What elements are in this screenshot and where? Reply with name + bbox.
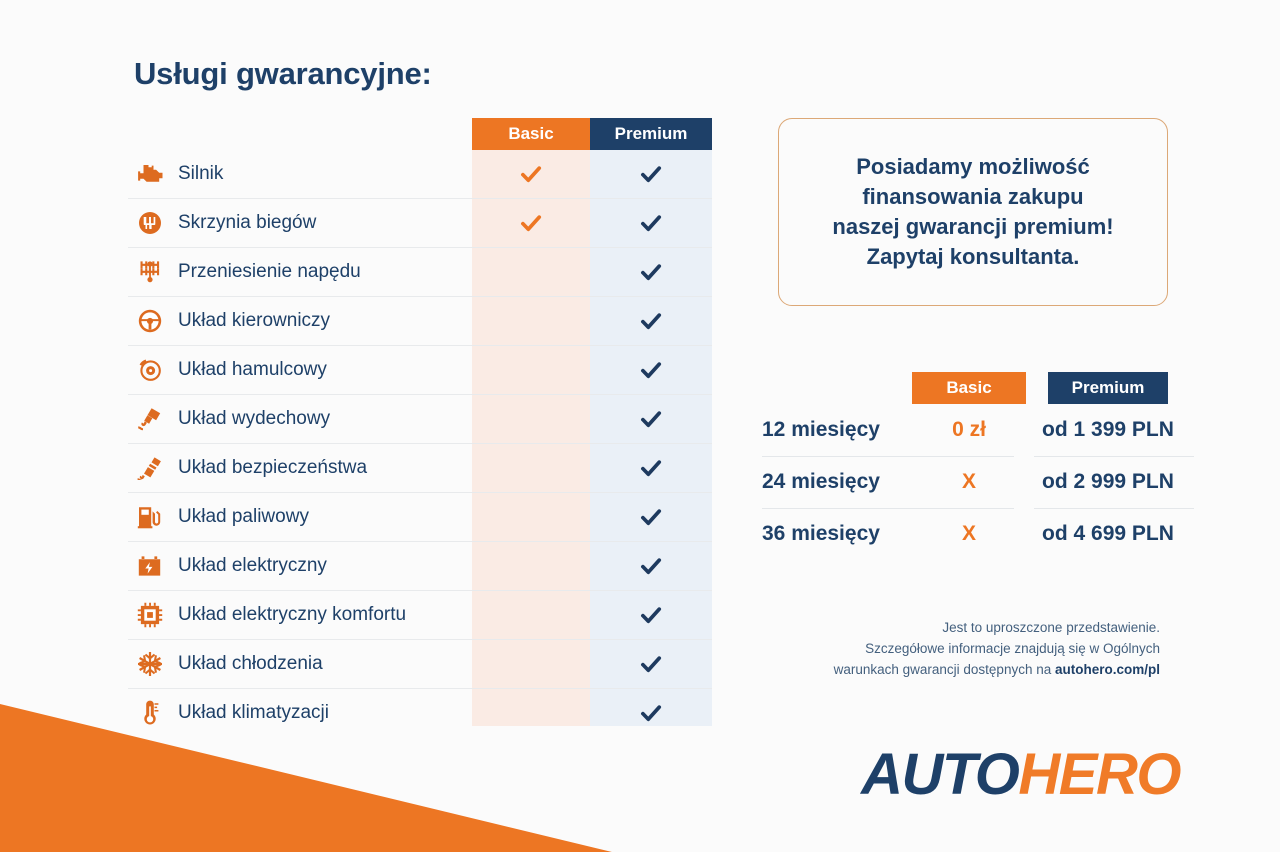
- warranty-table-header: Basic Premium: [128, 118, 712, 150]
- table-row: Układ wydechowy: [128, 395, 712, 444]
- column-header-premium: Premium: [590, 118, 712, 150]
- battery-icon: [132, 551, 168, 581]
- check-icon: [638, 553, 664, 579]
- table-row: Układ klimatyzacji: [128, 689, 712, 737]
- cell-basic: [472, 199, 590, 247]
- cell-basic: [472, 248, 590, 296]
- table-row: Układ elektryczny komfortu: [128, 591, 712, 640]
- pricing-premium-value: od 4 699 PLN: [1034, 508, 1182, 560]
- pricing-premium-value: od 1 399 PLN: [1034, 404, 1182, 456]
- cell-premium: [590, 395, 712, 443]
- check-icon: [638, 210, 664, 236]
- fineprint-line-3: warunkach gwarancji dostępnych na autohe…: [720, 660, 1160, 681]
- pricing-header-premium: Premium: [1048, 372, 1168, 404]
- check-icon: [638, 455, 664, 481]
- chip-icon: [132, 600, 168, 630]
- pricing-row: 24 miesięcyXod 2 999 PLN: [740, 456, 1200, 508]
- table-row: Układ elektryczny: [128, 542, 712, 591]
- logo-text-hero: HERO: [1018, 741, 1180, 808]
- table-row: Układ bezpieczeństwa: [128, 444, 712, 493]
- gearbox-icon: [132, 208, 168, 238]
- cell-basic: [472, 346, 590, 394]
- service-label: Układ kierowniczy: [178, 310, 330, 332]
- pricing-term-label: 36 miesięcy: [762, 508, 932, 560]
- fuel-pump-icon: [132, 502, 168, 532]
- column-header-basic: Basic: [472, 118, 590, 150]
- table-row: Układ chłodzenia: [128, 640, 712, 689]
- check-icon: [518, 161, 544, 187]
- service-label: Układ elektryczny komfortu: [178, 604, 406, 626]
- pricing-table: Basic Premium 12 miesięcy0 złod 1 399 PL…: [740, 372, 1200, 560]
- pricing-premium-value: od 2 999 PLN: [1034, 456, 1182, 508]
- cell-premium: [590, 640, 712, 688]
- fineprint-line-3-prefix: warunkach gwarancji dostępnych na: [834, 662, 1055, 677]
- table-row: Silnik: [128, 150, 712, 199]
- check-icon: [518, 210, 544, 236]
- service-label: Układ wydechowy: [178, 408, 330, 430]
- check-icon: [638, 651, 664, 677]
- service-label: Układ klimatyzacji: [178, 702, 329, 724]
- check-icon: [638, 406, 664, 432]
- check-icon: [638, 161, 664, 187]
- cell-premium: [590, 689, 712, 737]
- pricing-row: 12 miesięcy0 złod 1 399 PLN: [740, 404, 1200, 456]
- poster-canvas: Usługi gwarancyjne: Basic Premium Silnik…: [0, 0, 1280, 852]
- warranty-services-section: Usługi gwarancyjne: Basic Premium Silnik…: [128, 56, 712, 737]
- warranty-table-body: SilnikSkrzynia biegówPrzeniesienie napęd…: [128, 150, 712, 737]
- steering-wheel-icon: [132, 306, 168, 336]
- pricing-term-label: 12 miesięcy: [762, 404, 932, 456]
- financing-callout-text: Posiadamy możliwośćfinansowania zakupuna…: [832, 152, 1113, 272]
- pricing-basic-value: X: [912, 508, 1026, 560]
- table-row: Układ paliwowy: [128, 493, 712, 542]
- service-label: Układ elektryczny: [178, 555, 327, 577]
- cell-basic: [472, 591, 590, 639]
- cell-basic: [472, 444, 590, 492]
- service-label: Układ hamulcowy: [178, 359, 327, 381]
- autohero-website-link[interactable]: autohero.com/pl: [1055, 662, 1160, 677]
- cell-basic: [472, 395, 590, 443]
- table-row: Układ kierowniczy: [128, 297, 712, 346]
- page-title: Usługi gwarancyjne:: [134, 56, 712, 92]
- table-row: Przeniesienie napędu: [128, 248, 712, 297]
- autohero-logo: AUTOHERO: [760, 742, 1180, 806]
- service-label: Układ chłodzenia: [178, 653, 323, 675]
- pricing-header-basic: Basic: [912, 372, 1026, 404]
- callout-line: naszej gwarancji premium!: [832, 214, 1113, 239]
- cell-premium: [590, 199, 712, 247]
- cell-basic: [472, 640, 590, 688]
- check-icon: [638, 602, 664, 628]
- fineprint-line-1: Jest to uproszczone przedstawienie.: [720, 618, 1160, 639]
- exhaust-icon: [132, 404, 168, 434]
- cell-basic: [472, 689, 590, 737]
- table-row: Skrzynia biegów: [128, 199, 712, 248]
- cell-basic: [472, 150, 590, 198]
- seatbelt-icon: [132, 453, 168, 483]
- check-icon: [638, 357, 664, 383]
- right-panel: Posiadamy możliwośćfinansowania zakupuna…: [720, 0, 1280, 852]
- cell-basic: [472, 493, 590, 541]
- callout-line: finansowania zakupu: [862, 184, 1083, 209]
- pricing-basic-value: X: [912, 456, 1026, 508]
- cell-premium: [590, 248, 712, 296]
- brake-icon: [132, 355, 168, 385]
- cell-premium: [590, 493, 712, 541]
- table-row: Układ hamulcowy: [128, 346, 712, 395]
- cell-premium: [590, 297, 712, 345]
- pricing-table-header: Basic Premium: [740, 372, 1200, 404]
- cell-basic: [472, 297, 590, 345]
- fineprint-disclaimer: Jest to uproszczone przedstawienie. Szcz…: [720, 618, 1160, 681]
- drivetrain-icon: [132, 257, 168, 287]
- fineprint-line-2: Szczegółowe informacje znajdują się w Og…: [720, 639, 1160, 660]
- service-label: Przeniesienie napędu: [178, 261, 361, 283]
- pricing-row: 36 miesięcyXod 4 699 PLN: [740, 508, 1200, 560]
- logo-text-auto: AUTO: [861, 741, 1018, 808]
- service-label: Układ bezpieczeństwa: [178, 457, 367, 479]
- warranty-table: Basic Premium SilnikSkrzynia biegówPrzen…: [128, 118, 712, 737]
- check-icon: [638, 504, 664, 530]
- cell-premium: [590, 150, 712, 198]
- cell-basic: [472, 542, 590, 590]
- check-icon: [638, 259, 664, 285]
- snowflake-icon: [132, 649, 168, 679]
- service-label: Układ paliwowy: [178, 506, 309, 528]
- callout-line: Zapytaj konsultanta.: [867, 244, 1080, 269]
- cell-premium: [590, 542, 712, 590]
- service-label: Skrzynia biegów: [178, 212, 316, 234]
- check-icon: [638, 700, 664, 726]
- cell-premium: [590, 591, 712, 639]
- pricing-term-label: 24 miesięcy: [762, 456, 932, 508]
- service-label: Silnik: [178, 163, 223, 185]
- callout-line: Posiadamy możliwość: [856, 154, 1090, 179]
- engine-icon: [132, 159, 168, 189]
- pricing-table-body: 12 miesięcy0 złod 1 399 PLN24 miesięcyXo…: [740, 404, 1200, 560]
- cell-premium: [590, 346, 712, 394]
- cell-premium: [590, 444, 712, 492]
- pricing-basic-value: 0 zł: [912, 404, 1026, 456]
- financing-callout-box: Posiadamy możliwośćfinansowania zakupuna…: [778, 118, 1168, 306]
- thermometer-icon: [132, 698, 168, 728]
- check-icon: [638, 308, 664, 334]
